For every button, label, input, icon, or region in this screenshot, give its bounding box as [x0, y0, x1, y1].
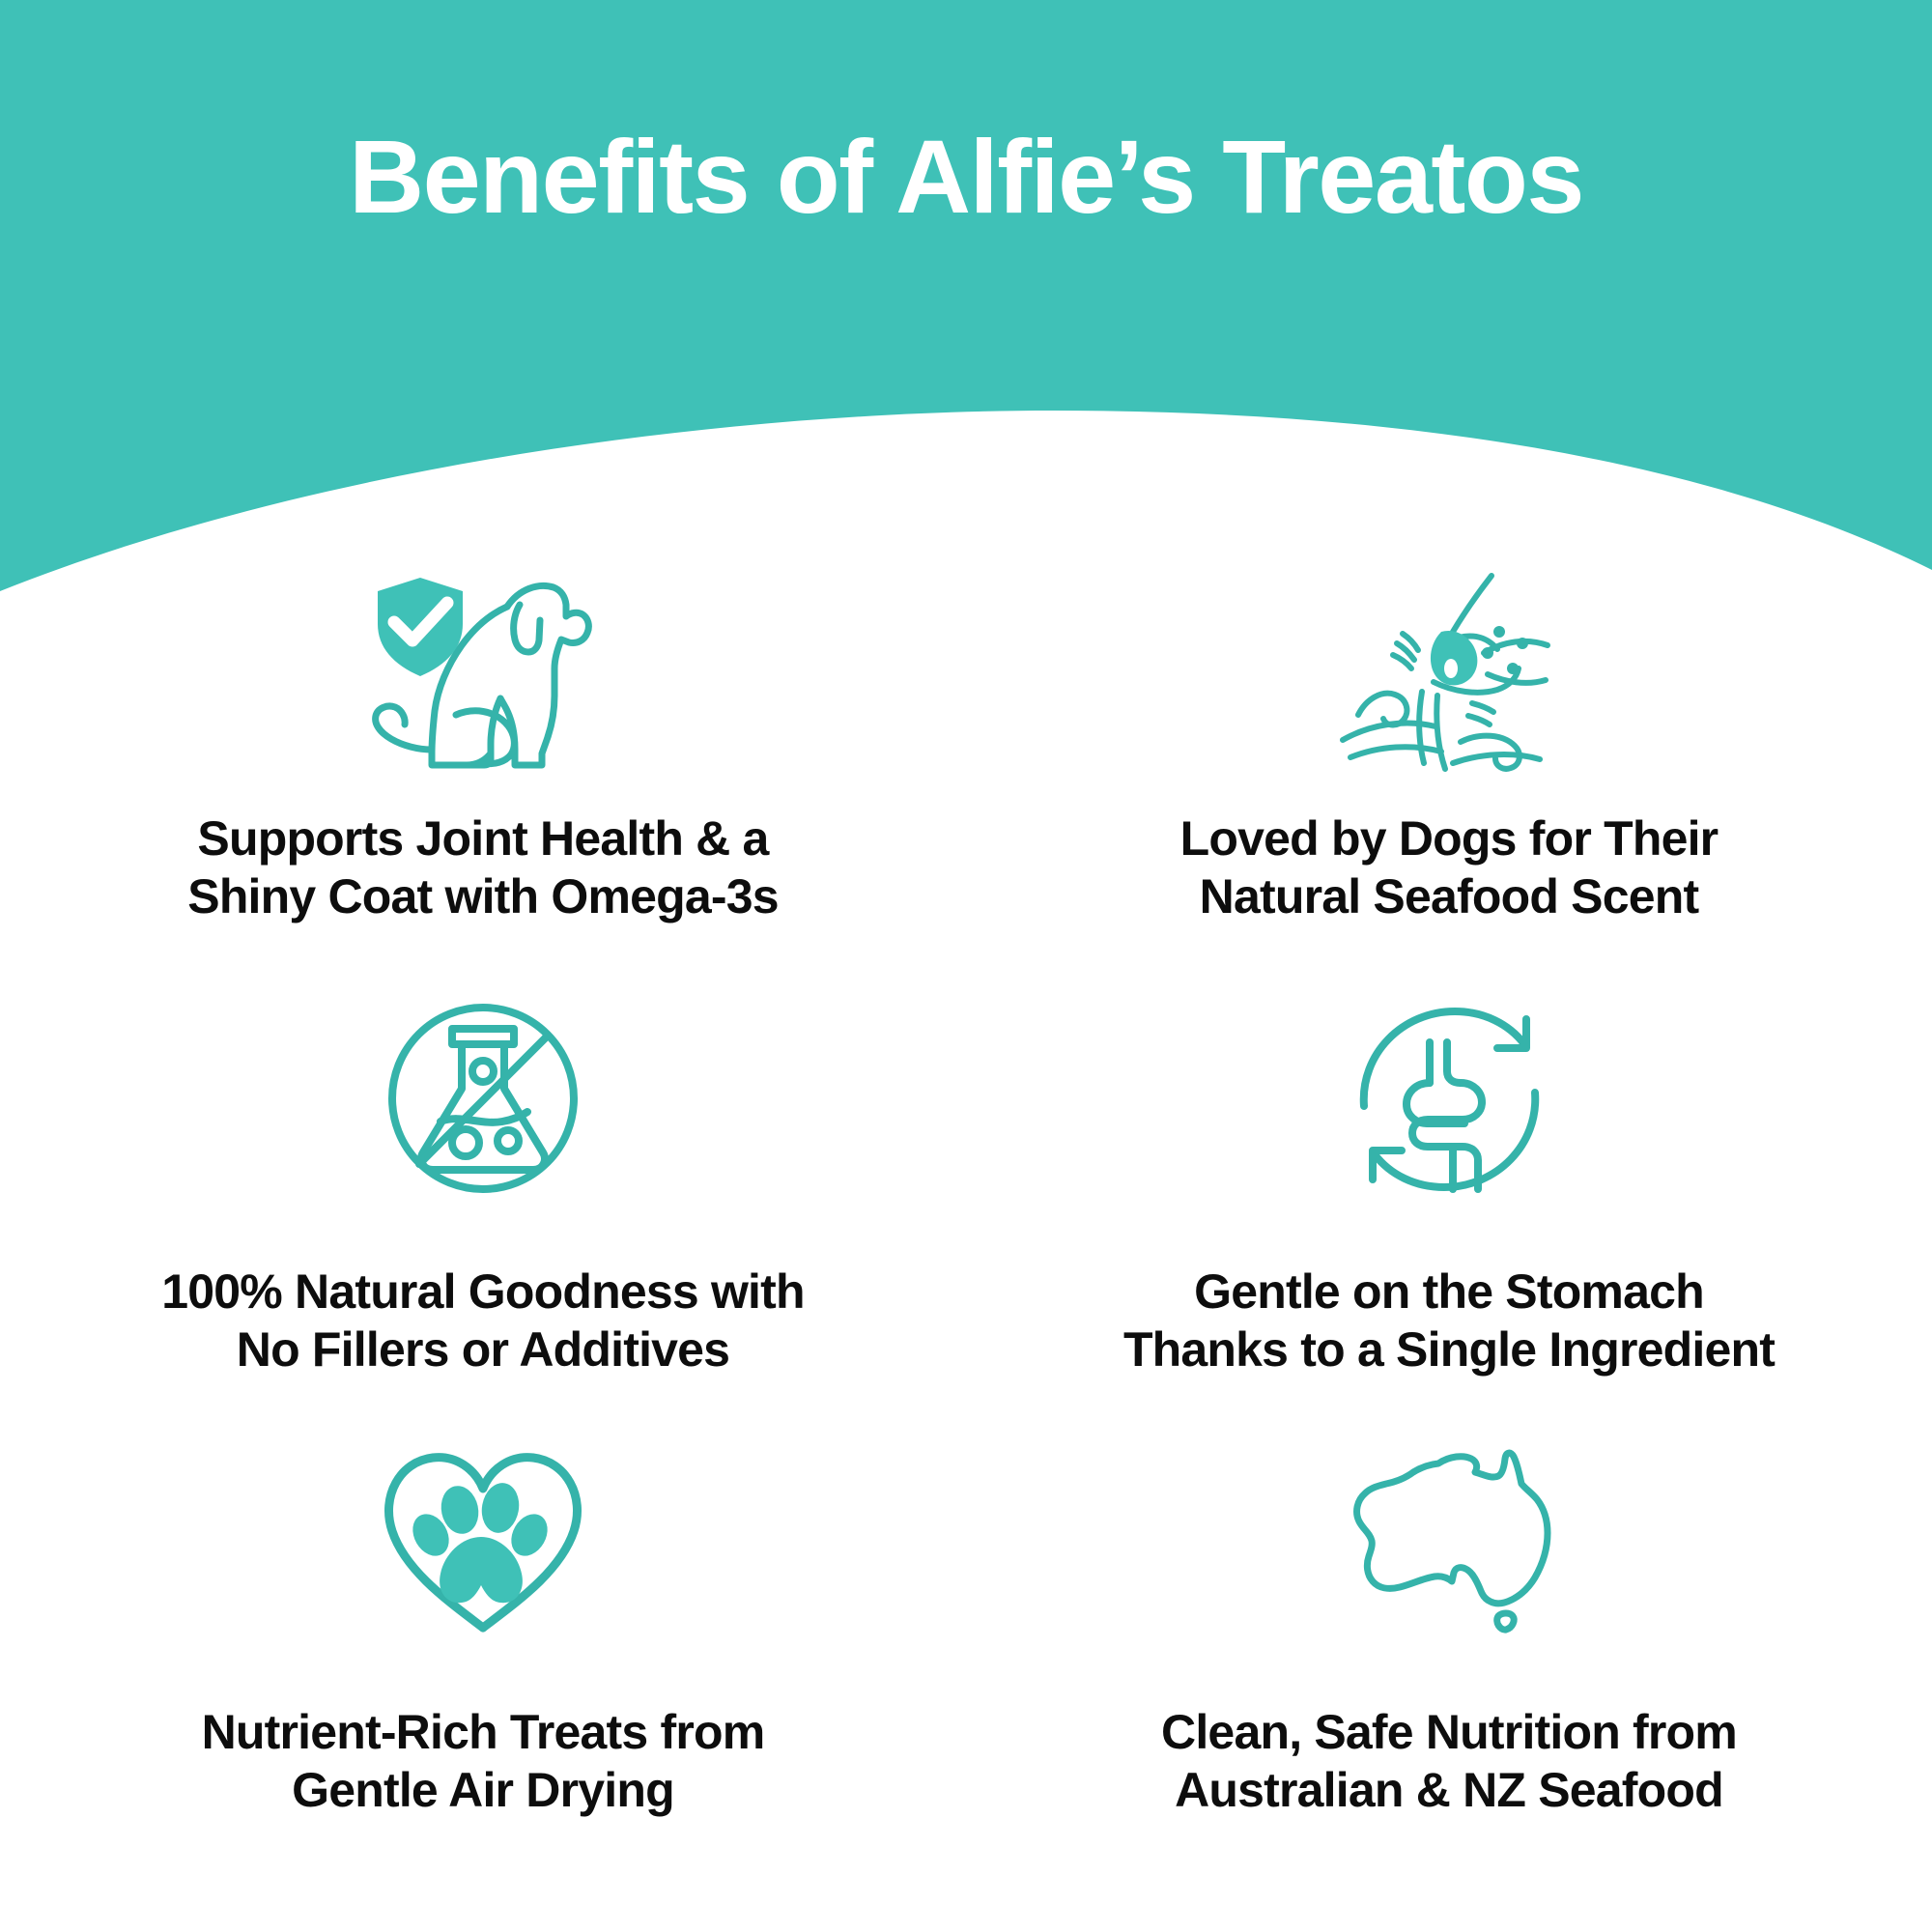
benefit-caption: Loved by Dogs for Their Natural Seafood …	[1082, 810, 1816, 925]
benefit-caption-line2: No Fillers or Additives	[116, 1321, 850, 1378]
benefit-caption: Gentle on the Stomach Thanks to a Single…	[1082, 1263, 1816, 1378]
benefit-caption-line2: Natural Seafood Scent	[1082, 867, 1816, 925]
benefits-poster: Benefits of Alfie’s Treatos	[0, 0, 1932, 1932]
benefit-caption-line1: Gentle on the Stomach	[1194, 1264, 1704, 1319]
digestive-health-intestine-icon	[1323, 995, 1575, 1203]
no-chemicals-flask-icon	[357, 995, 609, 1203]
benefit-caption-line1: Clean, Safe Nutrition from	[1161, 1705, 1737, 1759]
australia-map-icon	[1323, 1435, 1575, 1647]
benefit-item-seafood-scent: Loved by Dogs for Their Natural Seafood …	[966, 555, 1932, 995]
benefit-caption: 100% Natural Goodness with No Fillers or…	[116, 1263, 850, 1378]
benefit-item-air-dried: Nutrient-Rich Treats from Gentle Air Dry…	[0, 1435, 966, 1874]
benefits-grid: Supports Joint Health & a Shiny Coat wit…	[0, 555, 1932, 1874]
benefit-caption-line1: Nutrient-Rich Treats from	[202, 1705, 765, 1759]
benefit-caption-line2: Thanks to a Single Ingredient	[1082, 1321, 1816, 1378]
benefit-caption-line1: Loved by Dogs for Their	[1180, 811, 1719, 866]
header-band	[0, 0, 1932, 618]
benefit-item-gentle-stomach: Gentle on the Stomach Thanks to a Single…	[966, 995, 1932, 1435]
benefit-item-joint-health: Supports Joint Health & a Shiny Coat wit…	[0, 555, 966, 995]
benefit-item-aus-nz-seafood: Clean, Safe Nutrition from Australian & …	[966, 1435, 1932, 1874]
benefit-caption-line1: Supports Joint Health & a	[197, 811, 768, 866]
benefit-caption: Clean, Safe Nutrition from Australian & …	[1082, 1703, 1816, 1819]
benefit-caption-line2: Gentle Air Drying	[116, 1761, 850, 1819]
benefit-caption-line1: 100% Natural Goodness with	[161, 1264, 804, 1319]
benefit-caption-line2: Shiny Coat with Omega-3s	[116, 867, 850, 925]
benefit-item-natural-no-fillers: 100% Natural Goodness with No Fillers or…	[0, 995, 966, 1435]
dog-sniffing-scent-icon	[1323, 555, 1575, 782]
page-title: Benefits of Alfie’s Treatos	[0, 122, 1932, 232]
benefit-caption: Nutrient-Rich Treats from Gentle Air Dry…	[116, 1703, 850, 1819]
benefit-caption-line2: Australian & NZ Seafood	[1082, 1761, 1816, 1819]
heart-paw-print-icon	[357, 1435, 609, 1647]
benefit-caption: Supports Joint Health & a Shiny Coat wit…	[116, 810, 850, 925]
dog-shield-check-icon	[357, 555, 609, 782]
